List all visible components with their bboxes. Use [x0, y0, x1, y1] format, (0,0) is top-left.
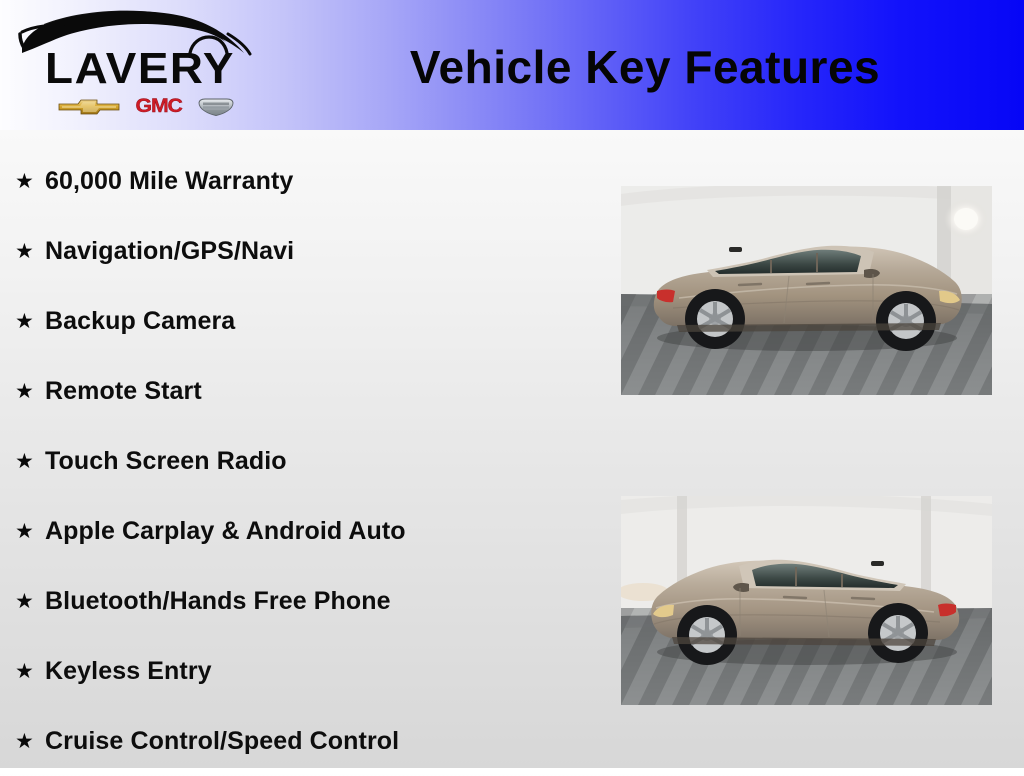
star-bullet-icon: ★	[14, 731, 45, 752]
star-bullet-icon: ★	[14, 241, 45, 262]
list-item: ★ Touch Screen Radio	[14, 426, 594, 496]
dealer-logo[interactable]: LAVERY GMC	[14, 4, 254, 126]
vehicle-features-list: ★ 60,000 Mile Warranty ★ Navigation/GPS/…	[14, 146, 594, 776]
feature-label: Bluetooth/Hands Free Phone	[45, 587, 391, 616]
wheel-front	[677, 605, 737, 665]
star-bullet-icon: ★	[14, 311, 45, 332]
vehicle-photo-driver-side[interactable]	[621, 496, 992, 705]
list-item: ★ Remote Start	[14, 356, 594, 426]
chevrolet-bowtie-icon	[58, 97, 120, 117]
feature-label: Navigation/GPS/Navi	[45, 237, 294, 266]
list-item: ★ Backup Camera	[14, 286, 594, 356]
vehicle-photo-passenger-side[interactable]	[621, 186, 992, 395]
feature-label: Cruise Control/Speed Control	[45, 727, 399, 756]
wheel-rear	[685, 289, 745, 349]
list-item: ★ Apple Carplay & Android Auto	[14, 496, 594, 566]
gmc-badge-label: GMC	[136, 97, 182, 117]
star-bullet-icon: ★	[14, 451, 45, 472]
list-item: ★ Cruise Control/Speed Control	[14, 706, 594, 776]
star-bullet-icon: ★	[14, 381, 45, 402]
list-item: ★ Keyless Entry	[14, 636, 594, 706]
dealer-wordmark: LAVERY	[19, 46, 260, 92]
feature-label: Apple Carplay & Android Auto	[45, 517, 406, 546]
wheel-front	[876, 291, 936, 351]
star-bullet-icon: ★	[14, 171, 45, 192]
feature-label: Touch Screen Radio	[45, 447, 287, 476]
star-bullet-icon: ★	[14, 521, 45, 542]
vehicle-photo-image	[621, 186, 992, 395]
feature-label: Backup Camera	[45, 307, 235, 336]
page-title: Vehicle Key Features	[300, 40, 990, 94]
list-item: ★ 60,000 Mile Warranty	[14, 146, 594, 216]
cadillac-crest-icon	[198, 97, 234, 117]
wheel-rear	[868, 603, 928, 663]
star-bullet-icon: ★	[14, 591, 45, 612]
feature-label: 60,000 Mile Warranty	[45, 167, 293, 196]
page-header: LAVERY GMC	[0, 0, 1024, 130]
feature-label: Remote Start	[45, 377, 202, 406]
brand-badge-row: GMC	[58, 94, 234, 120]
star-bullet-icon: ★	[14, 661, 45, 682]
vehicle-photo-image	[621, 496, 992, 705]
feature-label: Keyless Entry	[45, 657, 212, 686]
list-item: ★ Navigation/GPS/Navi	[14, 216, 594, 286]
list-item: ★ Bluetooth/Hands Free Phone	[14, 566, 594, 636]
